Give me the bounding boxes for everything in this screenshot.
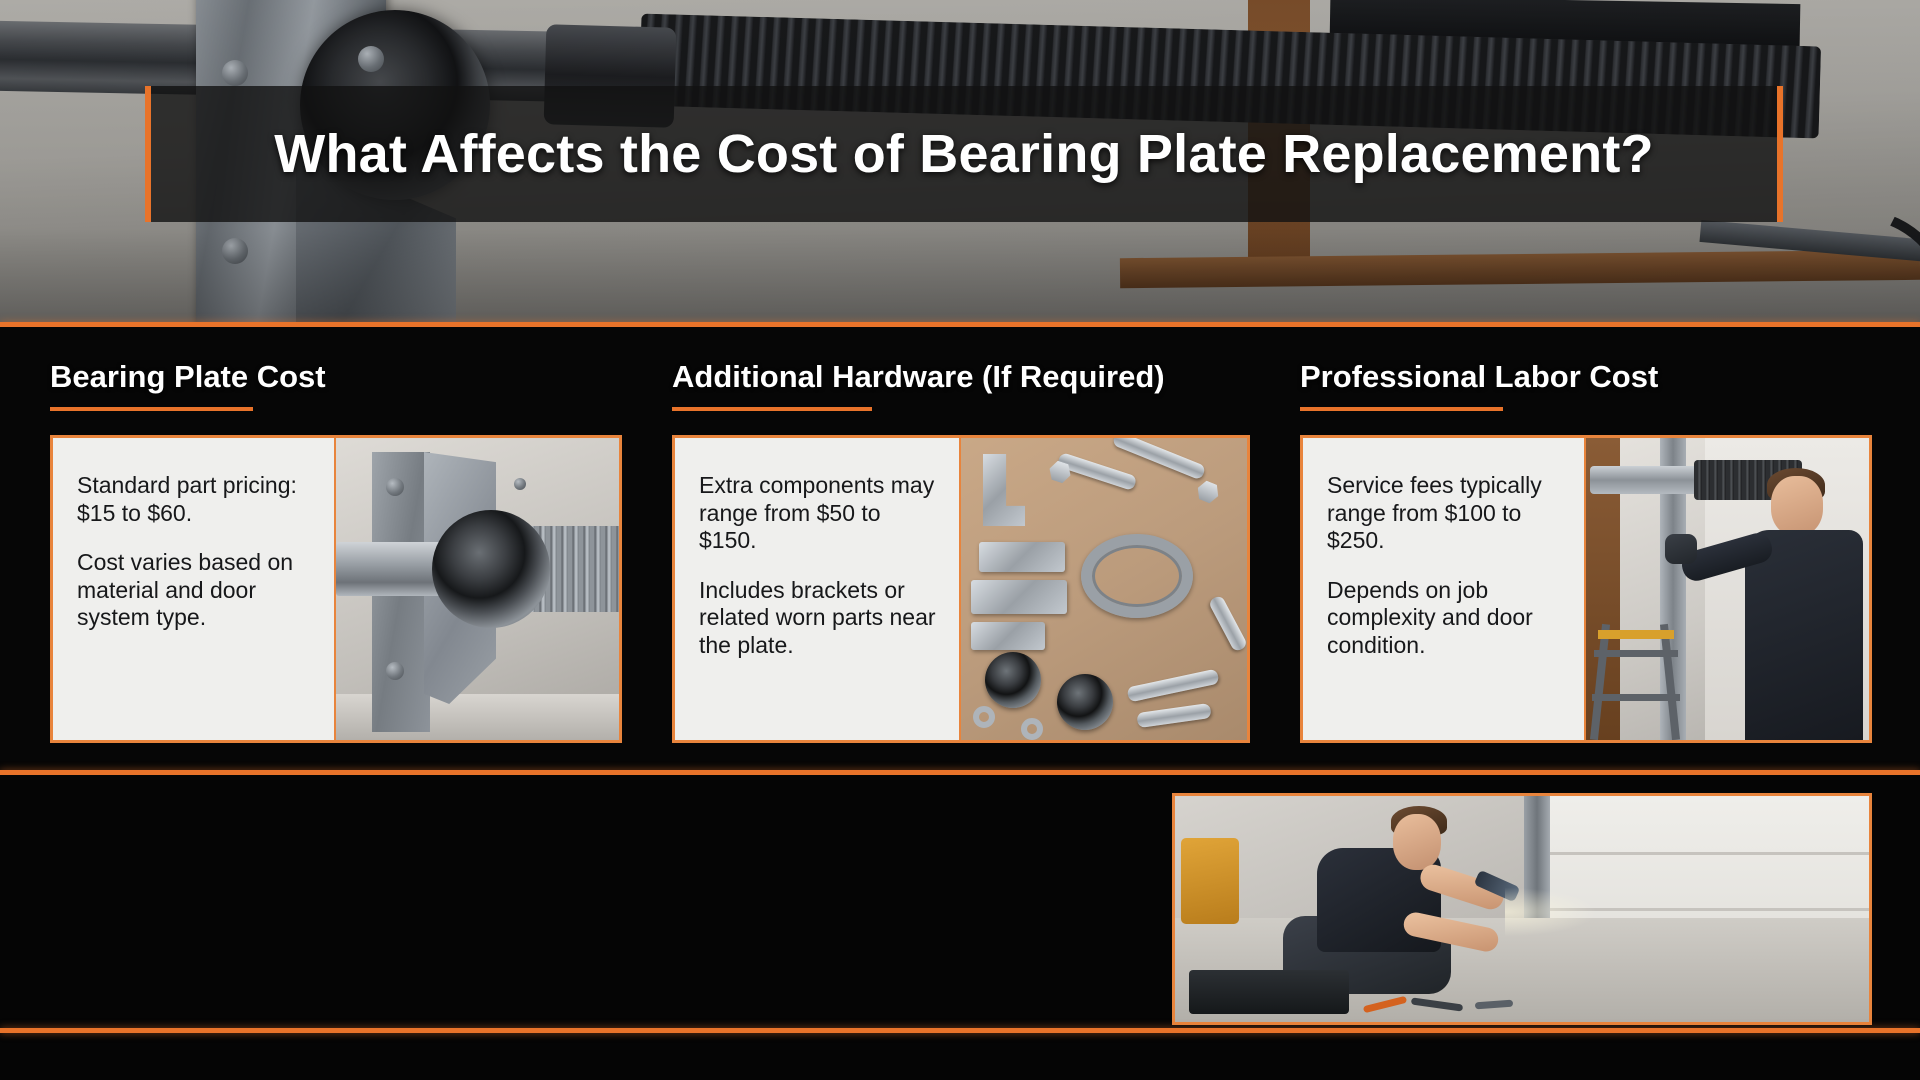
column-heading: Additional Hardware (If Required) (672, 327, 1250, 395)
washer-icon (973, 706, 995, 728)
info-card: Extra components may range from $50 to $… (672, 435, 1250, 743)
heading-underline (1300, 407, 1503, 411)
flat-bracket (979, 542, 1065, 572)
technician-glove (1665, 534, 1697, 564)
column-professional-labor-cost: Professional Labor Cost Service fees typ… (1300, 327, 1872, 743)
hero-section: What Affects the Cost of Bearing Plate R… (0, 0, 1920, 327)
title-accent-left (145, 86, 151, 222)
column-heading: Bearing Plate Cost (50, 327, 622, 395)
column-heading: Professional Labor Cost (1300, 327, 1872, 395)
bolt-icon (514, 478, 526, 490)
washer-icon (1021, 718, 1043, 740)
bearing-icon (1057, 674, 1113, 730)
card-text-panel: Extra components may range from $50 to $… (675, 438, 961, 740)
flat-bracket (971, 622, 1045, 650)
heading-underline (50, 407, 253, 411)
card-paragraph: Cost varies based on material and door s… (77, 549, 312, 632)
bolt-icon (386, 662, 404, 680)
card-text-panel: Service fees typically range from $100 t… (1303, 438, 1586, 740)
card-image-technician (1586, 438, 1869, 740)
column-additional-hardware: Additional Hardware (If Required) Extra … (672, 327, 1250, 743)
shaft (1590, 466, 1710, 494)
toolbox (1189, 970, 1349, 1014)
bolt-icon (386, 478, 404, 496)
technician-head (1771, 476, 1823, 536)
page-title: What Affects the Cost of Bearing Plate R… (145, 123, 1783, 185)
bearing-icon (985, 652, 1041, 708)
tool-cabinet (1181, 838, 1239, 924)
card-image-hardware (961, 438, 1247, 740)
card-paragraph: Depends on job complexity and door condi… (1327, 577, 1562, 660)
card-paragraph: Extra components may range from $50 to $… (699, 472, 937, 555)
divider-bottom (0, 1028, 1920, 1033)
step-ladder (1588, 624, 1696, 740)
title-band: What Affects the Cost of Bearing Plate R… (145, 86, 1783, 222)
flashlight-beam (1505, 888, 1595, 936)
card-paragraph: Includes brackets or related worn parts … (699, 577, 937, 660)
heading-underline (672, 407, 872, 411)
card-text-panel: Standard part pricing: $15 to $60. Cost … (53, 438, 336, 740)
bearing-hub (432, 510, 550, 628)
info-card: Service fees typically range from $100 t… (1300, 435, 1872, 743)
columns-section: Bearing Plate Cost Standard part pricing… (0, 327, 1920, 770)
flat-bracket (971, 580, 1067, 614)
infographic-page: What Affects the Cost of Bearing Plate R… (0, 0, 1920, 1080)
cable-coil (1081, 534, 1193, 618)
summary-section: Total cost depends on door type and syst… (0, 775, 1920, 1028)
info-card: Standard part pricing: $15 to $60. Cost … (50, 435, 622, 743)
summary-image-technician-inspecting (1172, 793, 1872, 1025)
column-bearing-plate-cost: Bearing Plate Cost Standard part pricing… (50, 327, 622, 743)
title-accent-right (1777, 86, 1783, 222)
card-paragraph: Service fees typically range from $100 t… (1327, 472, 1562, 555)
card-paragraph: Standard part pricing: $15 to $60. (77, 472, 312, 527)
card-image-bearing-plate (336, 438, 619, 740)
technician-head (1393, 814, 1441, 870)
